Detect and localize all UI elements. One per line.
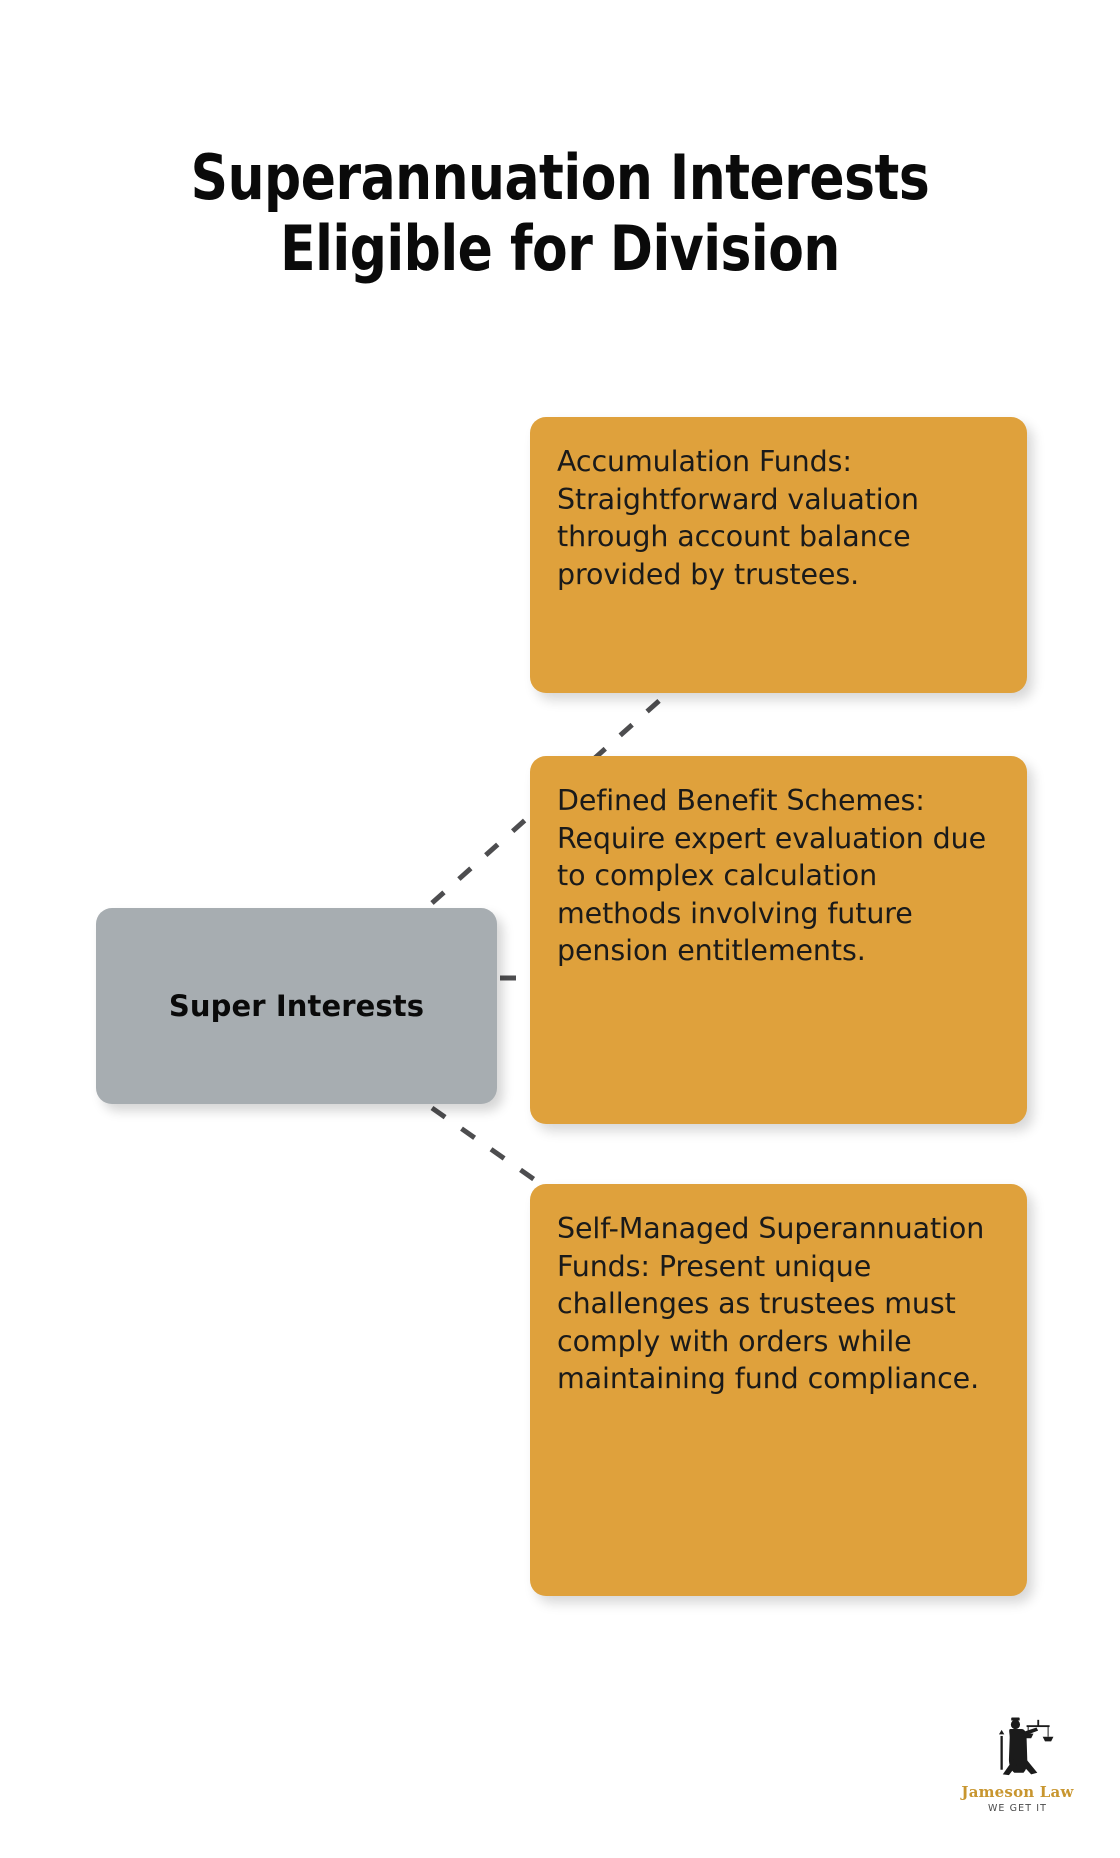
branch-node-self-managed-superannuation-funds[interactable]: Self-Managed Superannuation Funds: Prese… (530, 1184, 1027, 1596)
branch-node-text: Accumulation Funds: Straightforward valu… (557, 443, 997, 593)
branch-node-accumulation-funds[interactable]: Accumulation Funds: Straightforward valu… (530, 417, 1027, 693)
logo-tagline: WE GET IT (955, 1803, 1080, 1814)
branch-node-defined-benefit-schemes[interactable]: Defined Benefit Schemes: Require expert … (530, 756, 1027, 1124)
page-title: Superannuation Interests Eligible for Di… (39, 142, 1081, 286)
branch-node-text: Defined Benefit Schemes: Require expert … (557, 782, 997, 970)
branch-node-text: Self-Managed Superannuation Funds: Prese… (557, 1210, 997, 1398)
root-node-super-interests[interactable]: Super Interests (96, 908, 497, 1104)
lady-justice-scales-icon (979, 1716, 1056, 1782)
infographic-canvas: Superannuation Interests Eligible for Di… (0, 0, 1120, 1858)
logo-wordmark: Jameson Law (955, 1783, 1080, 1801)
brand-logo[interactable]: Jameson Law WE GET IT (955, 1716, 1080, 1828)
root-node-label: Super Interests (169, 989, 424, 1023)
